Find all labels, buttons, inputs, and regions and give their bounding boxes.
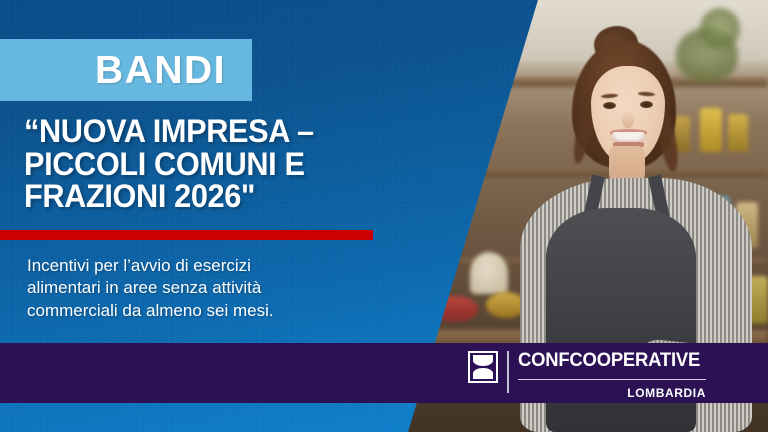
page-title: “NUOVA IMPRESA – PICCOLI COMUNI E FRAZIO… <box>24 115 381 213</box>
logo-name: CONFCOOPERATIVE <box>518 351 700 370</box>
nose <box>622 110 634 128</box>
footer-bar: CONFCOOPERATIVE LOMBARDIA <box>0 343 768 403</box>
subtitle: Incentivi per l’avvio di esercizi alimen… <box>27 255 367 322</box>
subtitle-line-1: Incentivi per l’avvio di esercizi <box>27 255 367 277</box>
logo-divider <box>507 351 509 393</box>
subtitle-line-2: alimentari in aree senza attività <box>27 277 367 299</box>
red-divider <box>0 230 373 240</box>
logo-region: LOMBARDIA <box>518 387 706 399</box>
promotional-banner: BANDI “NUOVA IMPRESA – PICCOLI COMUNI E … <box>0 0 768 432</box>
bandi-badge: BANDI <box>0 39 252 101</box>
eye <box>640 101 653 108</box>
logo-text-block: CONFCOOPERATIVE LOMBARDIA <box>518 351 706 399</box>
bandi-badge-label: BANDI <box>95 51 252 90</box>
headline-line-1: “NUOVA IMPRESA – <box>24 115 381 148</box>
confcooperative-logo: CONFCOOPERATIVE LOMBARDIA <box>468 351 706 399</box>
headline-line-3: FRAZIONI 2026" <box>24 180 381 213</box>
headline-line-2: PICCOLI COMUNI E <box>24 148 381 181</box>
eye <box>603 102 616 109</box>
subtitle-line-3: commerciali da almeno sei mesi. <box>27 300 367 322</box>
logo-underline <box>518 379 706 380</box>
confcooperative-hourglass-icon <box>468 351 498 383</box>
